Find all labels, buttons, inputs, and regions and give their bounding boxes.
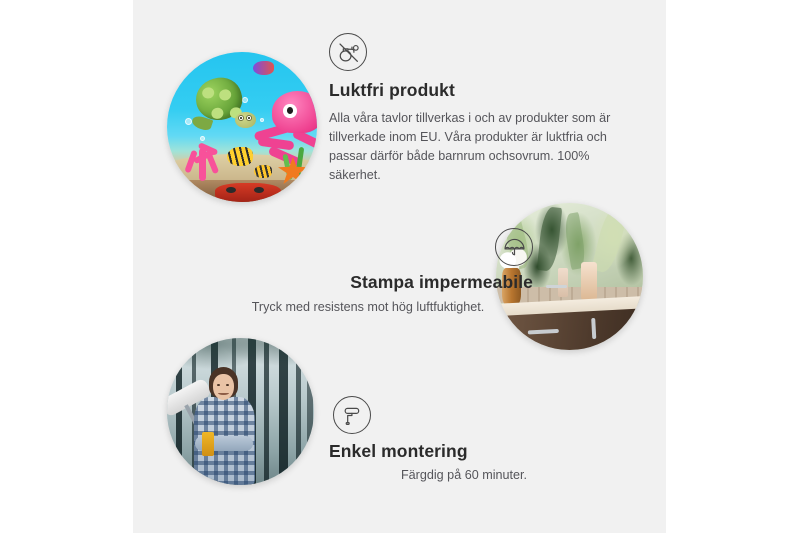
towel (581, 262, 597, 300)
coral-illustration (182, 136, 221, 181)
paint-roller-icon (333, 396, 371, 434)
feature-waterproof-print: Stampa impermeabile Tryck med resistens … (203, 228, 533, 317)
feature-easy-mounting: Enkel montering Färgdig på 60 minuter. (329, 396, 599, 485)
fish-illustration (254, 165, 272, 179)
feature-title: Luktfri produkt (329, 80, 631, 102)
no-fragrance-spray-icon (329, 33, 367, 71)
paint-tool (202, 432, 214, 456)
screenshot-root: Luktfri produkt Alla våra tavlor tillver… (0, 0, 800, 533)
turtle-illustration (191, 76, 257, 130)
feature-title: Enkel montering (329, 441, 599, 463)
soap-bottle (558, 268, 568, 297)
crab-illustration (215, 183, 281, 203)
feature-body: Alla våra tavlor tillverkas i och av pro… (329, 109, 631, 186)
turtle-head (235, 112, 256, 128)
product-image-painter-forest-wallpaper[interactable] (167, 338, 314, 485)
feature-odour-free: Luktfri produkt Alla våra tavlor tillver… (329, 33, 631, 185)
octopus-eye (283, 104, 296, 118)
feature-body: Tryck med resistens mot hög luftfuktighe… (203, 298, 533, 317)
product-feature-panel: Luktfri produkt Alla våra tavlor tillver… (133, 0, 666, 533)
feature-body: Färgdig på 60 minuter. (329, 466, 599, 485)
faucet (546, 285, 567, 288)
painter-woman (191, 367, 273, 485)
fish-illustration (227, 147, 253, 167)
feature-title: Stampa impermeabile (203, 272, 533, 294)
product-image-sea-mural[interactable] (167, 52, 317, 202)
turtle-eye (246, 115, 252, 121)
octopus-body (272, 91, 317, 133)
turtle-eye (238, 115, 244, 121)
umbrella-icon (495, 228, 533, 266)
fish-illustration (253, 61, 274, 75)
